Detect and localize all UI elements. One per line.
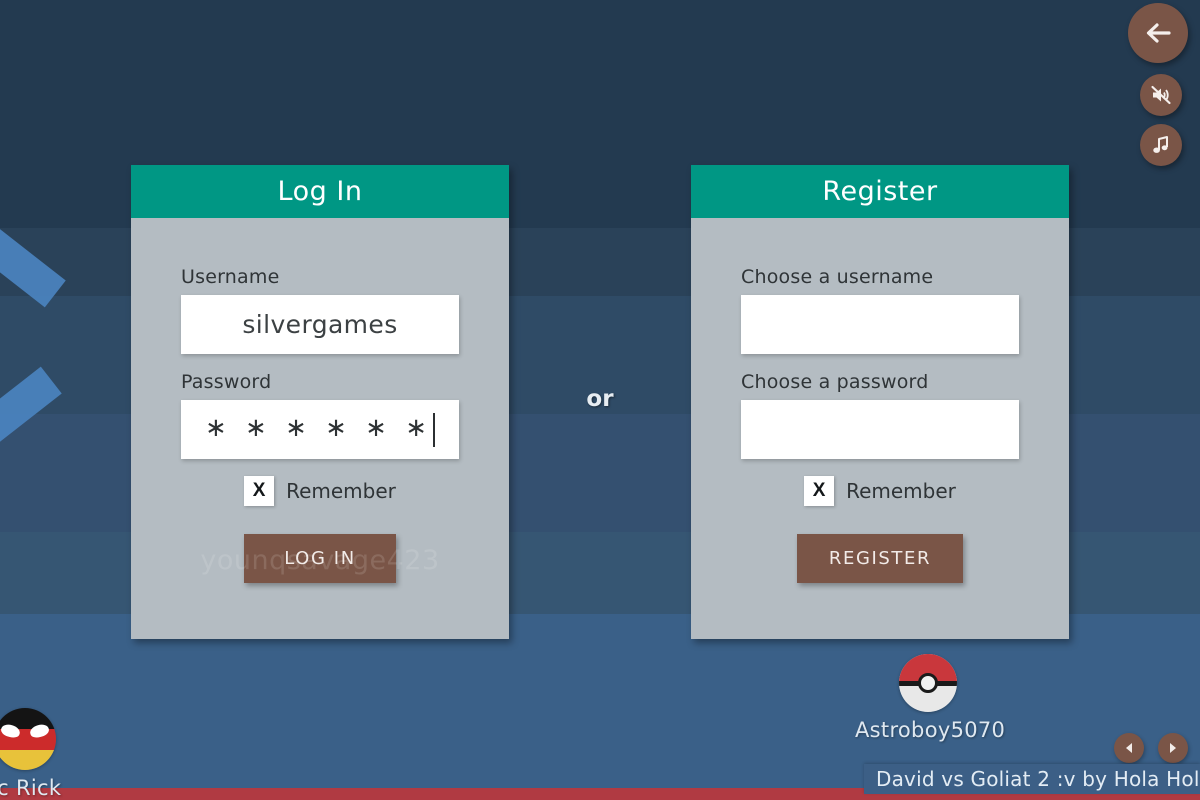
previous-button[interactable] bbox=[1114, 733, 1144, 763]
login-button-row: LOG IN bbox=[181, 534, 459, 583]
status-bar: David vs Goliat 2 :v by Hola Holisis bbox=[864, 764, 1200, 794]
player-avatar-astroboy[interactable]: Astroboy5070 bbox=[855, 654, 1000, 742]
flag-stripe-gold bbox=[0, 750, 56, 770]
music-note-icon bbox=[1150, 134, 1172, 156]
register-remember-checkbox[interactable]: X bbox=[804, 476, 834, 506]
register-remember-label: Remember bbox=[846, 479, 956, 503]
status-bar-text: David vs Goliat 2 :v by Hola Holisis bbox=[876, 767, 1200, 791]
register-panel-body: Choose a username Choose a password X Re… bbox=[691, 218, 1069, 639]
player-avatar-rick[interactable]: tc Rick bbox=[0, 708, 80, 800]
pokeball-avatar-icon bbox=[899, 654, 957, 712]
login-username-value: silvergames bbox=[242, 310, 397, 339]
login-panel-body: Username silvergames Password ∗ ∗ ∗ ∗ ∗ … bbox=[131, 218, 509, 639]
triangle-right-icon bbox=[1166, 741, 1180, 755]
register-remember-row[interactable]: X Remember bbox=[741, 476, 1019, 506]
triangle-left-icon bbox=[1122, 741, 1136, 755]
register-panel-title: Register bbox=[822, 176, 937, 207]
register-username-input[interactable] bbox=[741, 295, 1019, 354]
next-button[interactable] bbox=[1158, 733, 1188, 763]
register-password-input[interactable] bbox=[741, 400, 1019, 459]
pokeball-center-button bbox=[918, 673, 938, 693]
background-band-6 bbox=[0, 614, 1200, 788]
text-caret bbox=[433, 413, 435, 447]
speaker-muted-icon bbox=[1149, 83, 1173, 107]
music-toggle-button[interactable] bbox=[1140, 124, 1182, 166]
register-panel-header: Register bbox=[691, 165, 1069, 218]
register-panel: Register Choose a username Choose a pass… bbox=[691, 165, 1069, 639]
login-remember-label: Remember bbox=[286, 479, 396, 503]
avatar-name-label: tc Rick bbox=[0, 776, 80, 800]
login-panel-header: Log In bbox=[131, 165, 509, 218]
login-remember-checkbox[interactable]: X bbox=[244, 476, 274, 506]
mute-toggle-button[interactable] bbox=[1140, 74, 1182, 116]
register-button[interactable]: REGISTER bbox=[797, 534, 963, 583]
login-panel: Log In Username silvergames Password ∗ ∗… bbox=[131, 165, 509, 639]
germany-countryball-avatar-icon bbox=[0, 708, 56, 770]
login-username-label: Username bbox=[181, 266, 459, 288]
register-button-row: REGISTER bbox=[741, 534, 1019, 583]
login-password-input[interactable]: ∗ ∗ ∗ ∗ ∗ ∗ bbox=[181, 400, 459, 459]
avatar-name-label: Astroboy5070 bbox=[855, 718, 1000, 742]
log-in-button[interactable]: LOG IN bbox=[244, 534, 396, 583]
register-username-label: Choose a username bbox=[741, 266, 1019, 288]
login-password-label: Password bbox=[181, 371, 459, 393]
game-screen: Log In Username silvergames Password ∗ ∗… bbox=[0, 0, 1200, 800]
login-password-value: ∗ ∗ ∗ ∗ ∗ ∗ bbox=[205, 413, 432, 443]
separator-or: or bbox=[566, 386, 634, 412]
register-password-label: Choose a password bbox=[741, 371, 1019, 393]
arrow-left-icon bbox=[1142, 17, 1174, 49]
login-username-input[interactable]: silvergames bbox=[181, 295, 459, 354]
login-panel-title: Log In bbox=[278, 176, 363, 207]
back-button[interactable] bbox=[1128, 3, 1188, 63]
login-remember-row[interactable]: X Remember bbox=[181, 476, 459, 506]
